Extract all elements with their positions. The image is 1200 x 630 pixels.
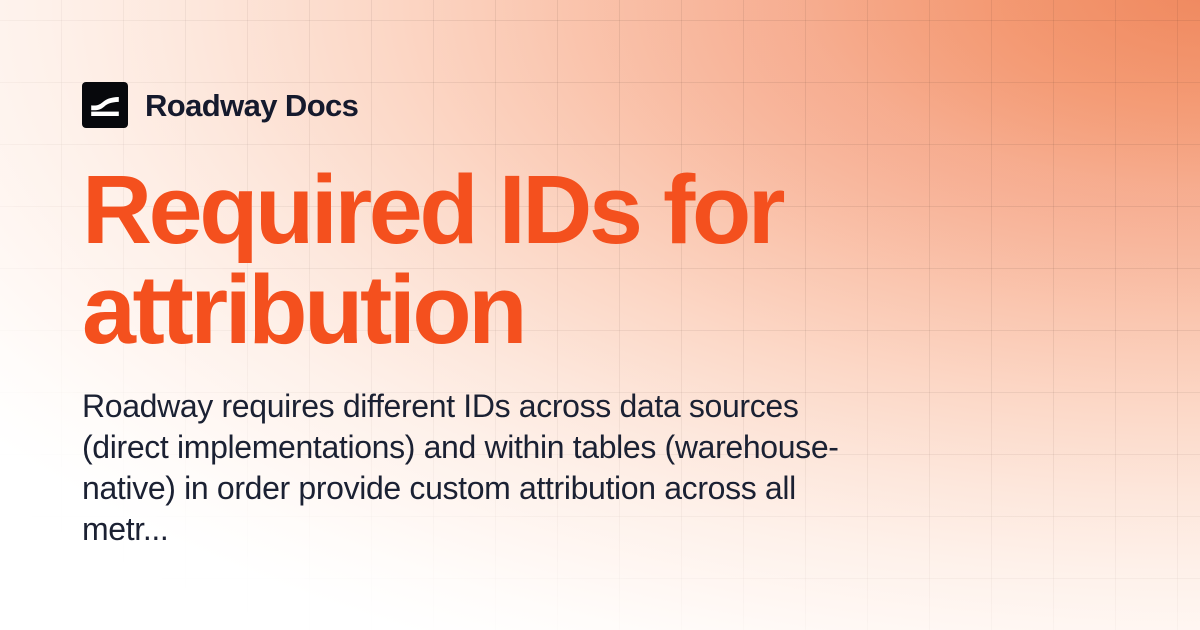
road-curve-icon — [82, 82, 128, 128]
page-description: Roadway requires different IDs across da… — [82, 386, 847, 550]
og-card: Roadway Docs Required IDs for attributio… — [0, 0, 1200, 630]
page-title: Required IDs for attribution — [82, 160, 842, 360]
brand-lockup: Roadway Docs — [82, 82, 358, 128]
brand-name: Roadway Docs — [145, 90, 358, 121]
card-content: Roadway Docs Required IDs for attributio… — [82, 0, 1122, 630]
